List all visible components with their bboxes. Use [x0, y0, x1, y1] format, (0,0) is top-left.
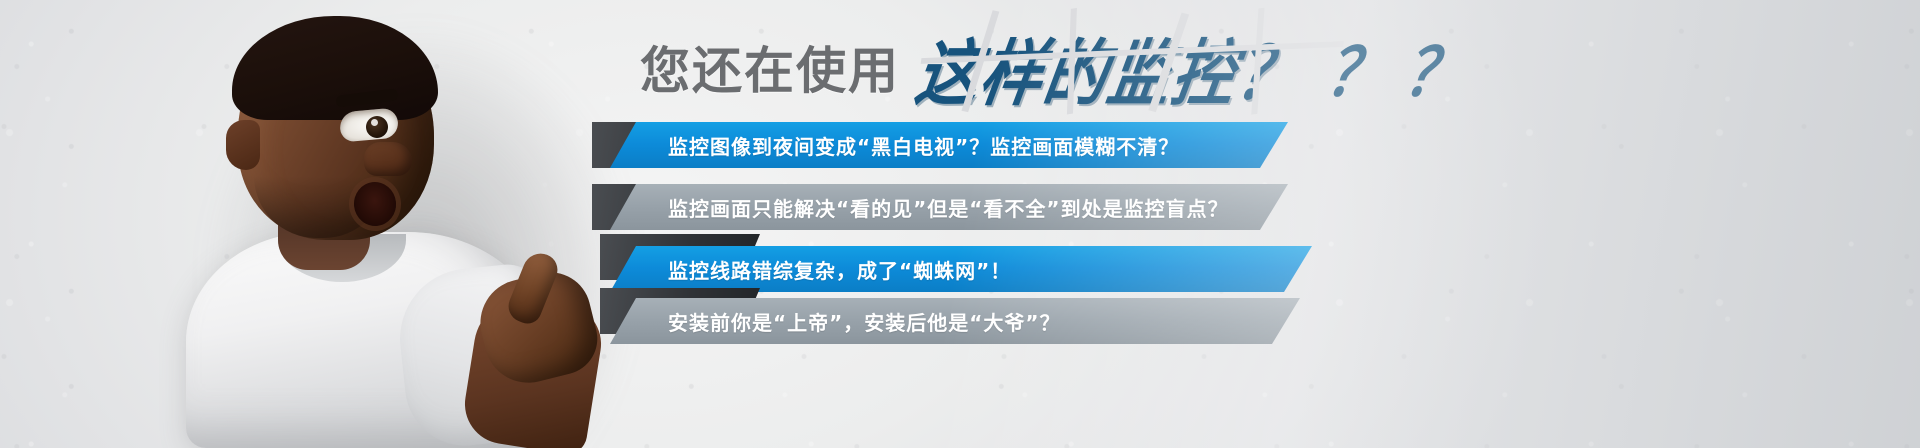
bullet-bar[interactable]: 监控线路错综复杂，成了“蜘蛛网”！: [610, 246, 1312, 292]
bullet-row-3: 监控线路错综复杂，成了“蜘蛛网”！: [0, 242, 1920, 298]
headline-question-marks: ？？: [1320, 19, 1491, 115]
bullet-row-4: 安装前你是“上帝”，安装后他是“大爷”？: [0, 294, 1920, 350]
promo-banner: 您还在使用 这样的监控？ ？？ 监控图像到夜间变成“黑白电视”？监控画面模糊不清…: [0, 0, 1920, 448]
bullet-text: 监控图像到夜间变成“黑白电视”？监控画面模糊不清？: [668, 131, 1179, 160]
headline-lead: 您还在使用: [640, 31, 900, 103]
bullet-bar[interactable]: 安装前你是“上帝”，安装后他是“大爷”？: [610, 298, 1300, 344]
headline: 您还在使用 这样的监控？ ？？: [640, 28, 1484, 106]
headline-emphasis-text: 这样的监控？: [910, 31, 1307, 116]
bullet-row-2: 监控画面只能解决“看的见”但是“看不全”到处是监控盲点？: [0, 180, 1920, 236]
bullet-text: 安装前你是“上帝”，安装后他是“大爷”？: [668, 307, 1061, 336]
bullet-bar[interactable]: 监控图像到夜间变成“黑白电视”？监控画面模糊不清？: [610, 122, 1288, 168]
bullet-text: 监控画面只能解决“看的见”但是“看不全”到处是监控盲点？: [668, 193, 1229, 222]
bullet-bar[interactable]: 监控画面只能解决“看的见”但是“看不全”到处是监控盲点？: [610, 184, 1288, 230]
bullet-text: 监控线路错综复杂，成了“蜘蛛网”！: [668, 255, 1011, 284]
bullet-bar-list: 监控图像到夜间变成“黑白电视”？监控画面模糊不清？ 监控画面只能解决“看的见”但…: [0, 118, 1920, 358]
bullet-row-1: 监控图像到夜间变成“黑白电视”？监控画面模糊不清？: [0, 118, 1920, 174]
headline-emphasis: 这样的监控？: [910, 15, 1311, 119]
